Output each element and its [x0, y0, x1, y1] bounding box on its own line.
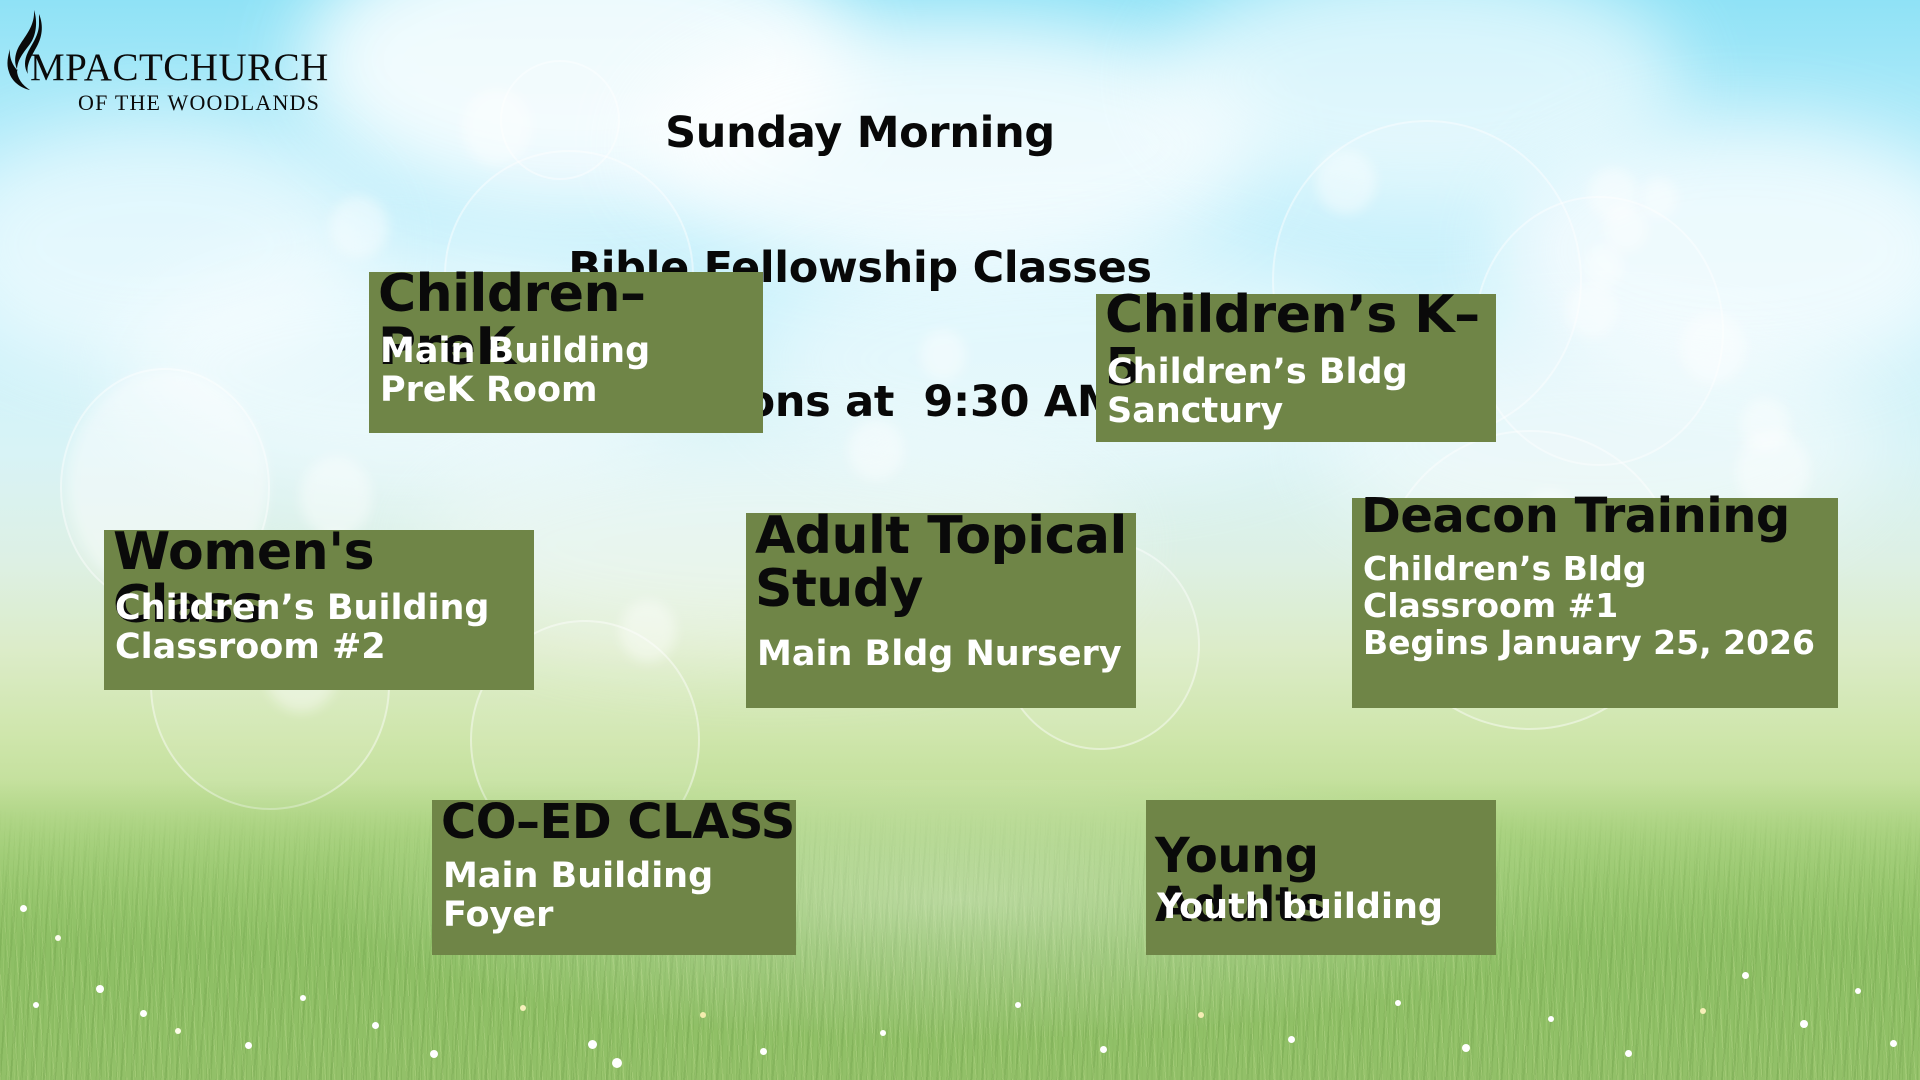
- class-location: Children’s Building Classroom #2: [115, 589, 490, 667]
- wildflower: [1100, 1046, 1107, 1053]
- slide-canvas: MPACTCHURCH OF THE WOODLANDS Sunday Morn…: [0, 0, 1920, 1080]
- logo-wordmark: MPACTCHURCH: [30, 48, 329, 87]
- church-logo[interactable]: MPACTCHURCH OF THE WOODLANDS: [4, 8, 334, 118]
- wildflower: [1548, 1016, 1554, 1022]
- class-card-co-ed-class[interactable]: CO–ED CLASS Main Building Foyer: [432, 800, 796, 955]
- class-location: Main Bldg Nursery: [757, 635, 1122, 674]
- bokeh-circle: [1566, 282, 1618, 338]
- class-card-childrens-k5[interactable]: Children’s K–5 Children’s Bldg Sanctury: [1096, 294, 1496, 442]
- wildflower: [20, 905, 27, 912]
- wildflower: [1800, 1020, 1808, 1028]
- class-card-adult-topical-study[interactable]: Adult Topical Study Main Bldg Nursery: [746, 513, 1136, 708]
- class-title: CO–ED CLASS: [441, 798, 795, 847]
- title-line-1: Sunday Morning: [440, 111, 1280, 156]
- wildflower: [1462, 1044, 1470, 1052]
- wildflower: [140, 1010, 147, 1017]
- wildflower: [1288, 1036, 1295, 1043]
- bokeh-circle: [1680, 312, 1746, 384]
- wildflower: [612, 1058, 622, 1068]
- class-location: Youth building: [1157, 888, 1443, 927]
- wildflower: [55, 935, 61, 941]
- wildflower: [175, 1028, 181, 1034]
- wildflower: [1890, 1040, 1897, 1047]
- class-title: Adult Topical Study: [755, 510, 1127, 616]
- class-card-deacon-training[interactable]: Deacon Training Children’s Bldg Classroo…: [1352, 498, 1838, 708]
- class-card-young-adults[interactable]: Young Adults Youth building: [1146, 800, 1496, 955]
- class-location: Children’s Bldg Sanctury: [1107, 353, 1408, 431]
- wildflower: [1015, 1002, 1021, 1008]
- class-location: Main Building Foyer: [443, 857, 713, 935]
- bokeh-circle: [1640, 178, 1678, 218]
- wildflower: [430, 1050, 438, 1058]
- wildflower: [33, 1002, 39, 1008]
- wildflower: [760, 1048, 767, 1055]
- meadow-haze: [0, 780, 1920, 1080]
- class-card-womens-class[interactable]: Women's Class Children’s Building Classr…: [104, 530, 534, 690]
- wildflower: [1855, 988, 1861, 994]
- wildflower: [520, 1005, 526, 1011]
- wildflower: [96, 985, 104, 993]
- bokeh-circle: [330, 196, 388, 258]
- wildflower: [1625, 1050, 1632, 1057]
- class-card-children-prek[interactable]: Children–PreK Main Building PreK Room: [369, 272, 763, 433]
- wildflower: [1198, 1012, 1204, 1018]
- wildflower: [372, 1022, 379, 1029]
- wildflower: [700, 1012, 706, 1018]
- bokeh-circle: [1316, 150, 1376, 214]
- wildflower: [880, 1030, 886, 1036]
- class-location: Main Building PreK Room: [380, 332, 650, 410]
- wildflower: [1700, 1008, 1706, 1014]
- logo-tagline: OF THE WOODLANDS: [78, 92, 320, 114]
- wildflower: [588, 1040, 597, 1049]
- wildflower: [245, 1042, 252, 1049]
- class-title: Deacon Training: [1361, 492, 1790, 541]
- wildflower: [300, 995, 306, 1001]
- wildflower: [1742, 972, 1749, 979]
- wildflower: [1395, 1000, 1401, 1006]
- class-location: Children’s Bldg Classroom #1 Begins Janu…: [1363, 551, 1815, 662]
